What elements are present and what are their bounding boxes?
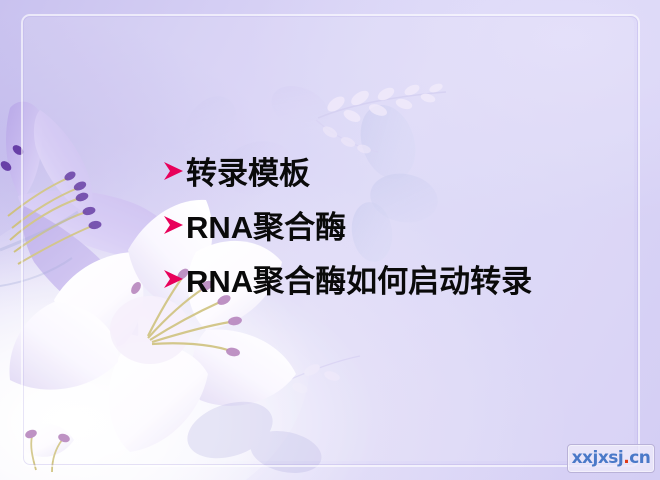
arrow-bullet-icon: [163, 156, 185, 186]
watermark-text: xxjxsj.cn: [572, 450, 651, 467]
bullet-text: 转录模板: [186, 152, 310, 196]
arrow-bullet-icon: [163, 210, 185, 240]
bullet-list: 转录模板 RNA聚合酶 RNA聚合酶如何启动转录: [163, 152, 623, 314]
list-item[interactable]: RNA聚合酶: [163, 206, 623, 254]
presentation-slide: 转录模板 RNA聚合酶 RNA聚合酶如何启动转录 xxjxsj.cn: [0, 0, 660, 480]
bullet-text: RNA聚合酶如何启动转录: [186, 260, 532, 304]
watermark-name: xxjxsj: [572, 448, 624, 468]
watermark-badge: xxjxsj.cn: [567, 444, 655, 473]
watermark-tld: cn: [629, 448, 650, 468]
list-item[interactable]: 转录模板: [163, 152, 623, 200]
list-item[interactable]: RNA聚合酶如何启动转录: [163, 260, 623, 308]
arrow-bullet-icon: [163, 264, 185, 294]
bullet-text: RNA聚合酶: [186, 206, 346, 250]
